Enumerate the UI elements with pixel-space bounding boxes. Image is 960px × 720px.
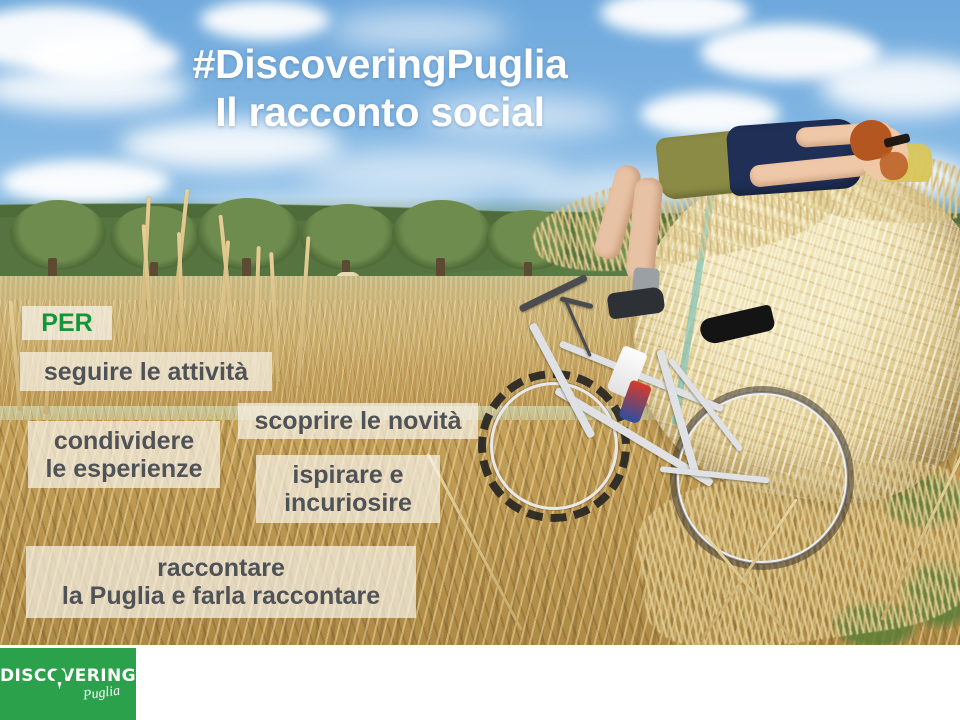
olive-tree xyxy=(10,200,106,270)
label-condividere-le-esperienze: condividere le esperienze xyxy=(28,421,220,488)
bike-front-rim xyxy=(490,382,618,510)
cloud xyxy=(820,56,960,116)
reclining-man xyxy=(600,118,960,318)
footer-bar: DISCOVERING Puglia xyxy=(0,645,960,720)
label-seguire-le-attivita: seguire le attività xyxy=(20,352,272,391)
label-ispirare-e-incuriosire: ispirare e incuriosire xyxy=(256,455,440,523)
label-scoprire-le-novita: scoprire le novità xyxy=(238,403,478,439)
man-shoe xyxy=(606,286,665,320)
logo-word-text: DISCOVERING xyxy=(0,666,136,686)
discovering-puglia-logo[interactable]: DISCOVERING Puglia xyxy=(0,648,136,720)
cloud xyxy=(200,0,330,40)
slide-title: #DiscoveringPuglia Il racconto social xyxy=(0,40,760,136)
logo-script-puglia: Puglia xyxy=(82,684,121,703)
label-per: PER xyxy=(22,306,112,340)
slide-root: #DiscoveringPuglia Il racconto social PE… xyxy=(0,0,960,720)
logo-wordmark: DISCOVERING xyxy=(0,668,136,685)
label-raccontare-la-puglia: raccontare la Puglia e farla raccontare xyxy=(26,546,416,618)
